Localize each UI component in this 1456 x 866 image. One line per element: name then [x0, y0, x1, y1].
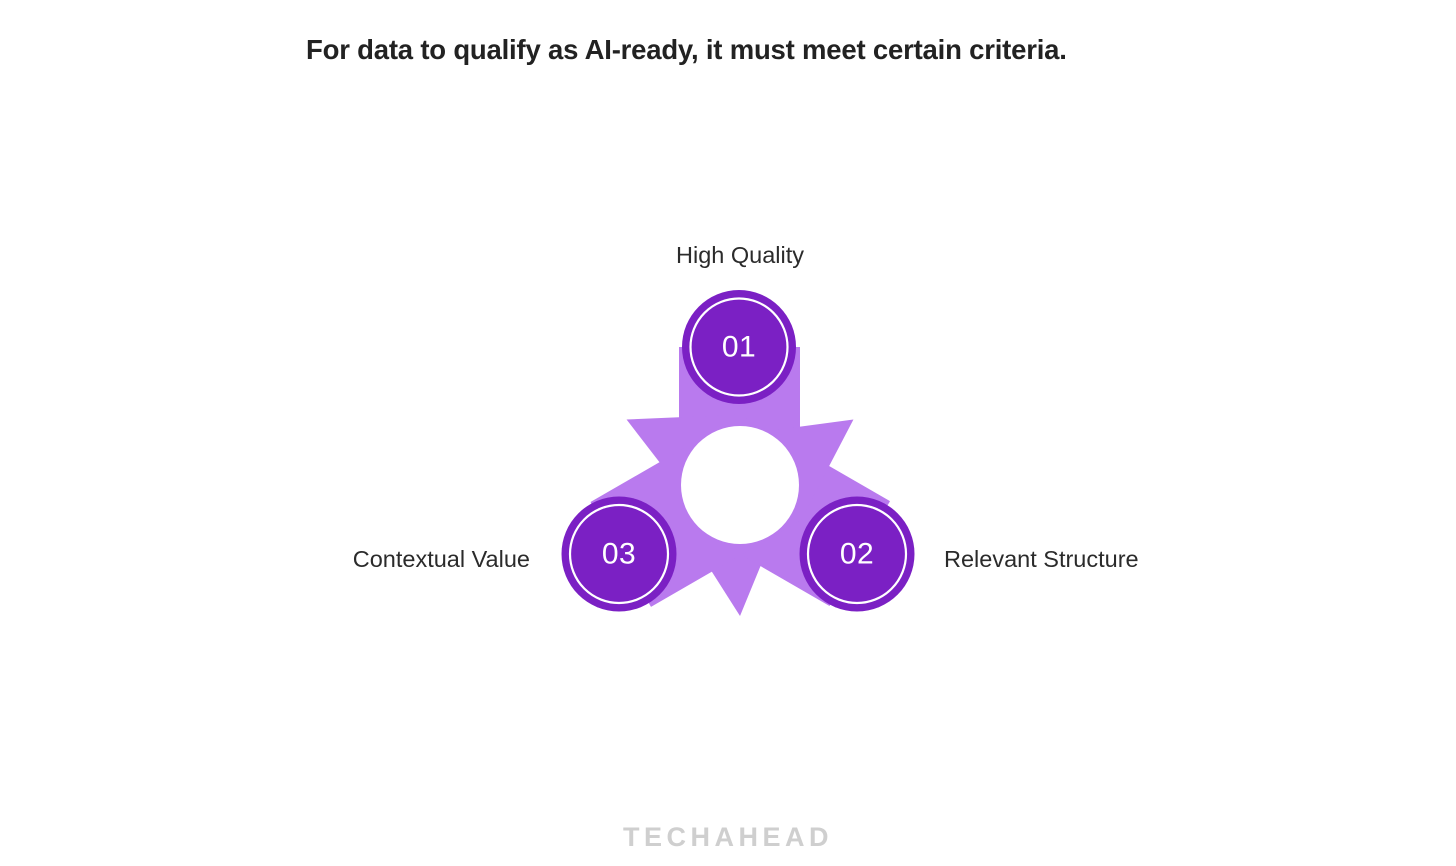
- techahead-watermark: TECHAHEAD: [0, 822, 1456, 853]
- node-01-label: High Quality: [0, 241, 1456, 269]
- node-02-number: 02: [840, 538, 874, 571]
- node-02[interactable]: 02: [800, 497, 915, 612]
- node-01-number: 01: [722, 331, 756, 364]
- node-03[interactable]: 03: [562, 497, 677, 612]
- pinwheel-diagram: 01 02 03 High Quality Relevant Structure…: [0, 0, 1456, 866]
- node-02-label: Relevant Structure: [944, 545, 1139, 573]
- node-01[interactable]: 01: [682, 290, 796, 404]
- center-hub-circle: [681, 426, 799, 544]
- node-03-label: Contextual Value: [353, 545, 530, 573]
- node-03-number: 03: [602, 538, 636, 571]
- pinwheel-svg: 01 02 03: [0, 0, 1456, 866]
